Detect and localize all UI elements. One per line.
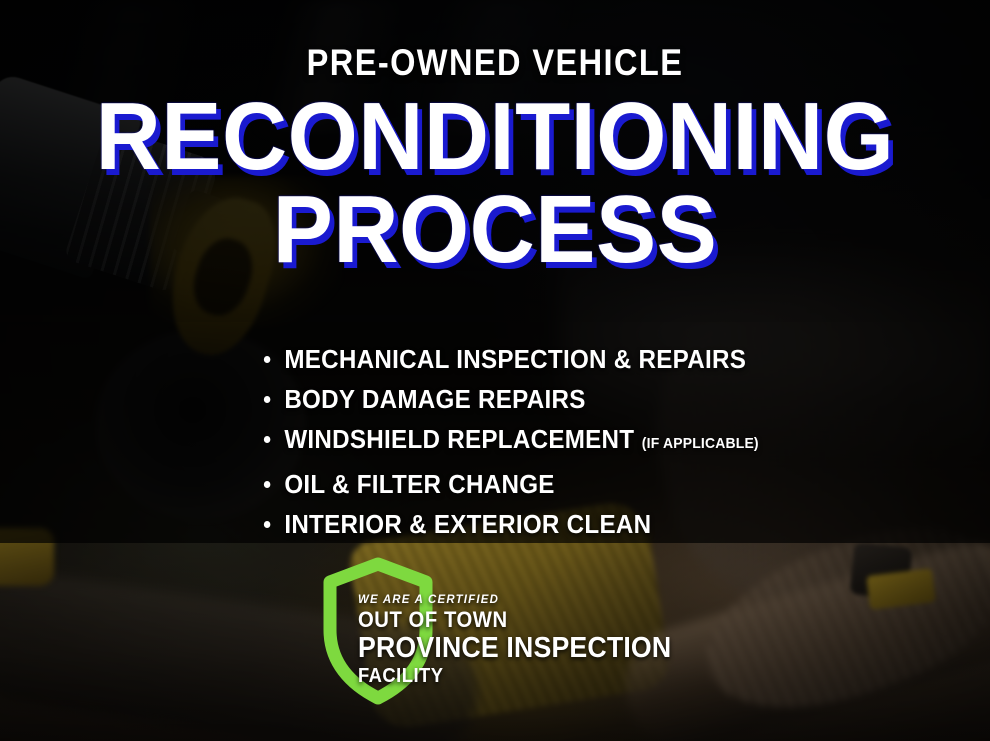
headline-line-2: PROCESS <box>30 189 961 272</box>
badge-line-2: OUT OF TOWN <box>358 607 671 632</box>
badge-line-1: WE ARE A CERTIFIED <box>358 592 682 606</box>
list-item-label: INTERIOR & EXTERIOR CLEAN <box>284 509 651 539</box>
list-item-label: OIL & FILTER CHANGE <box>284 469 554 499</box>
badge-line-3: PROVINCE INSPECTION <box>358 633 671 664</box>
badge-line-4: FACILITY <box>358 665 671 688</box>
page-title: RECONDITIONING PROCESS <box>0 96 990 271</box>
list-item: WINDSHIELD REPLACEMENT(IF APPLICABLE) <box>262 425 913 458</box>
list-item-note: (IF APPLICABLE) <box>642 435 759 452</box>
list-item-label: WINDSHIELD REPLACEMENT <box>284 424 634 454</box>
eyebrow-text: PRE-OWNED VEHICLE <box>59 41 930 85</box>
badge-text-block: WE ARE A CERTIFIED OUT OF TOWN PROVINCE … <box>358 592 699 688</box>
reconditioning-process-poster: PRE-OWNED VEHICLE RECONDITIONING PROCESS… <box>0 0 990 741</box>
list-item: MECHANICAL INSPECTION & REPAIRS <box>262 345 913 373</box>
process-list: MECHANICAL INSPECTION & REPAIRS BODY DAM… <box>262 345 962 550</box>
list-item-label: MECHANICAL INSPECTION & REPAIRS <box>284 344 746 374</box>
list-item: OIL & FILTER CHANGE <box>262 470 913 498</box>
headline-line-1: RECONDITIONING <box>30 96 961 179</box>
list-item: BODY DAMAGE REPAIRS <box>262 385 913 413</box>
certification-badge: WE ARE A CERTIFIED OUT OF TOWN PROVINCE … <box>318 556 678 706</box>
list-item-label: BODY DAMAGE REPAIRS <box>284 384 585 414</box>
list-item: INTERIOR & EXTERIOR CLEAN <box>262 510 913 538</box>
